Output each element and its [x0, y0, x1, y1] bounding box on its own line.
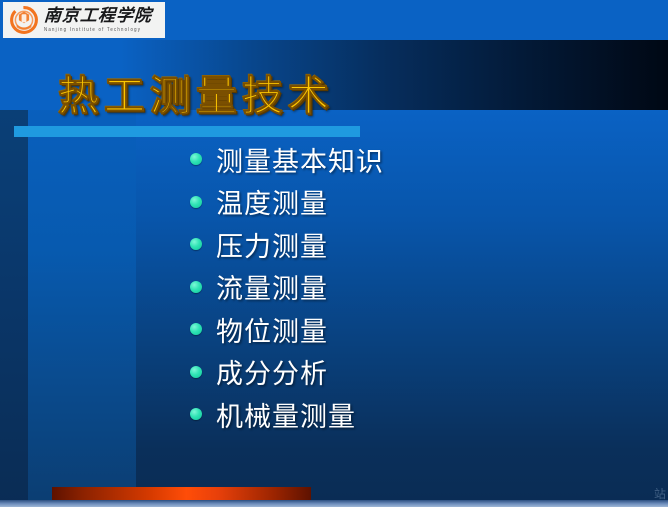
bottom-edge-strip [0, 500, 668, 507]
presentation-slide: 南京工程学院 Nanjing Institute of Technology 热… [0, 0, 668, 507]
bullet-dot-icon [190, 153, 202, 165]
list-item[interactable]: 测量基本知识 [190, 138, 640, 181]
bullet-dot-icon [190, 408, 202, 420]
topic-list: 测量基本知识 温度测量 压力测量 流量测量 物位测量 成分分析 机械量测量 [190, 138, 640, 436]
list-item-label: 机械量测量 [216, 395, 356, 434]
list-item-label: 压力测量 [216, 225, 328, 264]
list-item-label: 成分分析 [216, 352, 328, 391]
list-item[interactable]: 温度测量 [190, 181, 640, 224]
list-item[interactable]: 成分分析 [190, 351, 640, 394]
list-item-label: 物位测量 [216, 310, 328, 349]
slide-title: 热工测量技术 [58, 62, 334, 122]
bullet-dot-icon [190, 281, 202, 293]
list-item-label: 流量测量 [216, 267, 328, 306]
list-item-label: 温度测量 [216, 182, 328, 221]
list-item[interactable]: 压力测量 [190, 223, 640, 266]
list-item-label: 测量基本知识 [216, 140, 384, 179]
background-left-edge-band [0, 40, 28, 507]
bullet-dot-icon [190, 196, 202, 208]
title-underline-bar [14, 126, 360, 137]
bullet-dot-icon [190, 323, 202, 335]
logo-chinese-name: 南京工程学院 [43, 8, 152, 25]
institution-logo: 南京工程学院 Nanjing Institute of Technology [3, 2, 165, 38]
bullet-dot-icon [190, 366, 202, 378]
list-item[interactable]: 物位测量 [190, 308, 640, 351]
bullet-dot-icon [190, 238, 202, 250]
nanjing-institute-emblem-icon [9, 5, 39, 35]
list-item[interactable]: 流量测量 [190, 266, 640, 309]
logo-english-name: Nanjing Institute of Technology [44, 28, 152, 33]
list-item[interactable]: 机械量测量 [190, 393, 640, 436]
logo-text: 南京工程学院 Nanjing Institute of Technology [44, 7, 152, 32]
